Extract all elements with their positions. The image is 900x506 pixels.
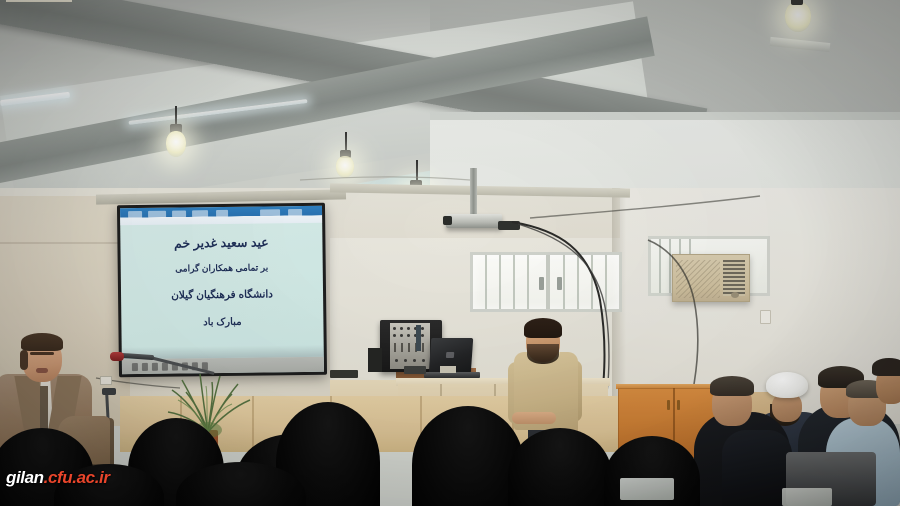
seated-speaker-tie	[40, 386, 48, 430]
seated-speaker-hair	[21, 333, 63, 351]
audience-handout-2	[782, 488, 832, 506]
site-watermark: gilan.cfu.ac.ir	[6, 468, 110, 488]
microphone-head	[110, 352, 124, 361]
laptop-logo	[446, 352, 454, 358]
audience-handout-1	[620, 478, 674, 500]
audience-man-1-hair	[710, 376, 754, 396]
pa-speaker-box	[368, 348, 382, 372]
microphone-stand-clamp	[102, 388, 116, 395]
seated-speaker-sideburn	[20, 350, 28, 370]
watermark-domain: .cfu.ac.ir	[44, 468, 110, 487]
seated-speaker-brow	[30, 352, 54, 355]
seated-speaker-mouth	[36, 368, 48, 373]
operator-hands	[512, 412, 556, 424]
operator-beard	[527, 344, 559, 364]
audio-mixer-panel	[390, 323, 430, 369]
wall-socket-left	[100, 376, 112, 385]
photo-scene: عید سعید غدیر خم بر تمامی همکاران گرامی …	[0, 0, 900, 506]
operator-hair	[524, 318, 562, 338]
mixer-handle	[416, 325, 421, 351]
watermark-site-name: gilan	[6, 468, 44, 487]
cleric-white-turban	[766, 372, 808, 398]
desk-device-1	[404, 366, 426, 374]
audience-man-4-hair	[872, 358, 900, 376]
desk-device-2	[330, 370, 358, 378]
desk-papers	[440, 366, 456, 373]
